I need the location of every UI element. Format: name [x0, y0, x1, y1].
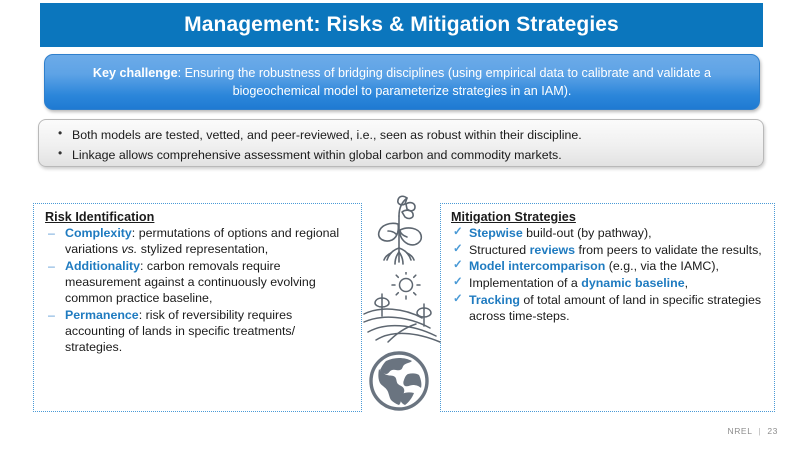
list-item: Both models are tested, vetted, and peer… — [55, 125, 749, 145]
key-challenge-label: Key challenge — [93, 66, 178, 80]
mitigation-panel-heading: Mitigation Strategies — [451, 210, 766, 224]
key-challenge-separator: : — [178, 66, 185, 80]
list-item: Stepwise build-out (by pathway), — [451, 225, 766, 241]
risk-term: Additionality — [65, 259, 140, 273]
mitigation-lead-plain: (e.g., via the IAMC), — [605, 259, 719, 273]
center-icon-column — [360, 190, 442, 420]
farm-field-sun-icon — [360, 272, 442, 351]
list-item: Linkage allows comprehensive assessment … — [55, 145, 749, 165]
list-item: Complexity: permutations of options and … — [45, 225, 351, 257]
risk-desc-italic: vs. — [121, 242, 137, 256]
mitigation-tail-plain: , — [685, 276, 688, 290]
mitigation-lead-plain: Implementation of a — [469, 276, 581, 290]
risk-panel-list: Complexity: permutations of options and … — [45, 225, 351, 355]
mitigation-lead-accent: Stepwise — [469, 226, 523, 240]
notes-box: Both models are tested, vetted, and peer… — [38, 119, 764, 167]
mitigation-panel-list: Stepwise build-out (by pathway), Structu… — [451, 225, 766, 324]
slide-root: Management: Risks & Mitigation Strategie… — [0, 0, 800, 450]
notes-list: Both models are tested, vetted, and peer… — [55, 125, 749, 165]
risk-term: Permanence — [65, 308, 139, 322]
globe-americas-icon — [368, 350, 430, 417]
mitigation-mid-accent: reviews — [530, 243, 575, 257]
risk-panel-heading: Risk Identification — [45, 210, 351, 224]
risk-desc-b: stylized representation, — [137, 242, 268, 256]
seedling-plant-icon — [366, 190, 432, 275]
footer-org: NREL — [727, 426, 752, 436]
slide-title-bar: Management: Risks & Mitigation Strategie… — [40, 3, 763, 47]
risk-term: Complexity — [65, 226, 132, 240]
page-number: 23 — [767, 426, 778, 436]
list-item: Structured reviews from peers to validat… — [451, 242, 766, 258]
list-item: Implementation of a dynamic baseline, — [451, 275, 766, 291]
list-item: Additionality: carbon removals require m… — [45, 258, 351, 306]
key-challenge-body: Ensuring the robustness of bridging disc… — [185, 66, 711, 98]
risk-identification-panel: Risk Identification Complexity: permutat… — [33, 203, 362, 412]
mitigation-tail-plain: from peers to validate the results, — [575, 243, 762, 257]
mitigation-mid-accent: dynamic baseline — [581, 276, 684, 290]
risk-sep: : — [132, 226, 139, 240]
mitigation-strategies-panel: Mitigation Strategies Stepwise build-out… — [440, 203, 775, 412]
footer-separator: | — [759, 426, 762, 436]
mitigation-lead-plain: build-out (by pathway), — [523, 226, 652, 240]
list-item: Tracking of total amount of land in spec… — [451, 292, 766, 324]
risk-sep: : — [139, 308, 146, 322]
slide-footer: NREL | 23 — [727, 426, 778, 436]
risk-sep: : — [140, 259, 147, 273]
page-title: Management: Risks & Mitigation Strategie… — [184, 13, 619, 36]
mitigation-lead-accent: Tracking — [469, 293, 520, 307]
mitigation-lead-accent: Model intercomparison — [469, 259, 605, 273]
list-item: Model intercomparison (e.g., via the IAM… — [451, 258, 766, 274]
key-challenge-text: Key challenge: Ensuring the robustness o… — [71, 64, 733, 101]
mitigation-lead-plain: Structured — [469, 243, 530, 257]
key-challenge-callout: Key challenge: Ensuring the robustness o… — [44, 54, 760, 110]
list-item: Permanence: risk of reversibility requir… — [45, 307, 351, 355]
